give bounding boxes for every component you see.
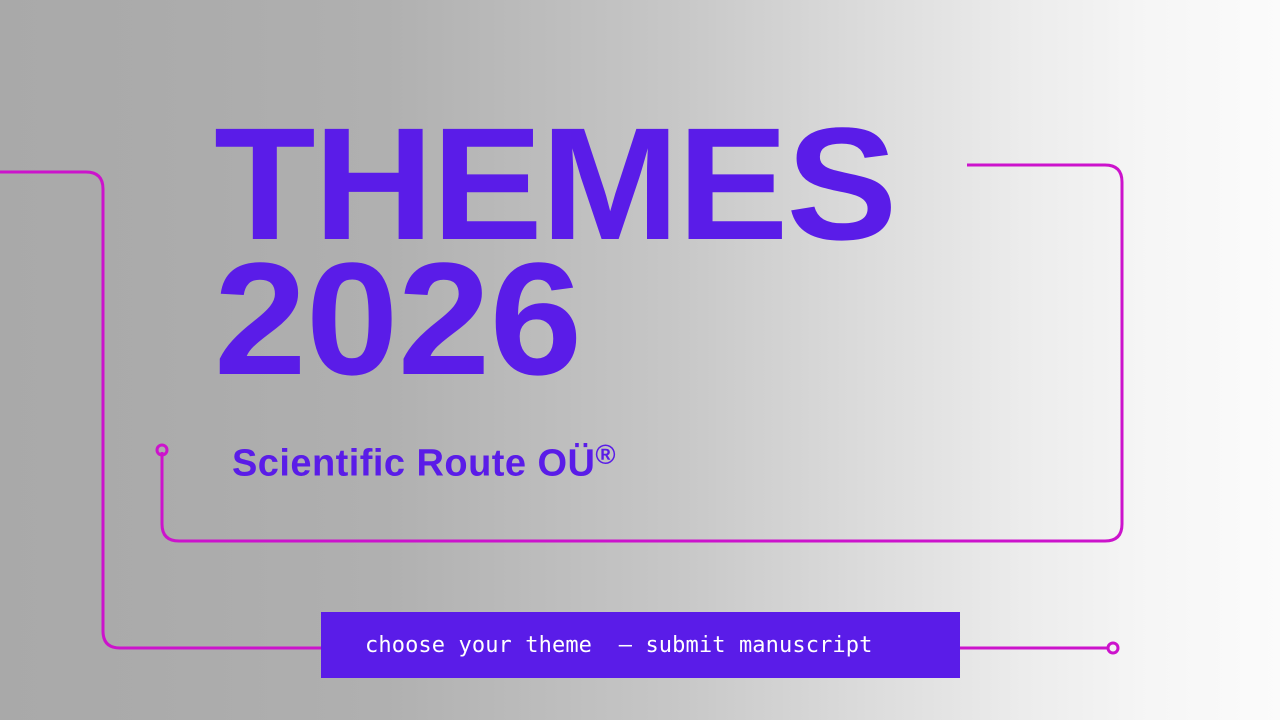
headline-line-year: 2026 — [214, 253, 1025, 384]
poster-canvas: THEMES 2026 Scientific Route OÜ® choose … — [0, 0, 1280, 720]
route-node-right — [1108, 643, 1118, 653]
organization-name: Scientific Route OÜ® — [232, 441, 616, 482]
page-title: THEMES 2026 — [214, 118, 994, 384]
registered-trademark-icon: ® — [595, 439, 616, 470]
organization-name-text: Scientific Route OÜ — [232, 442, 595, 484]
route-node-left — [157, 445, 167, 455]
cta-banner[interactable]: choose your theme – submit manuscript — [321, 612, 960, 678]
cta-label: choose your theme – submit manuscript — [365, 633, 873, 658]
